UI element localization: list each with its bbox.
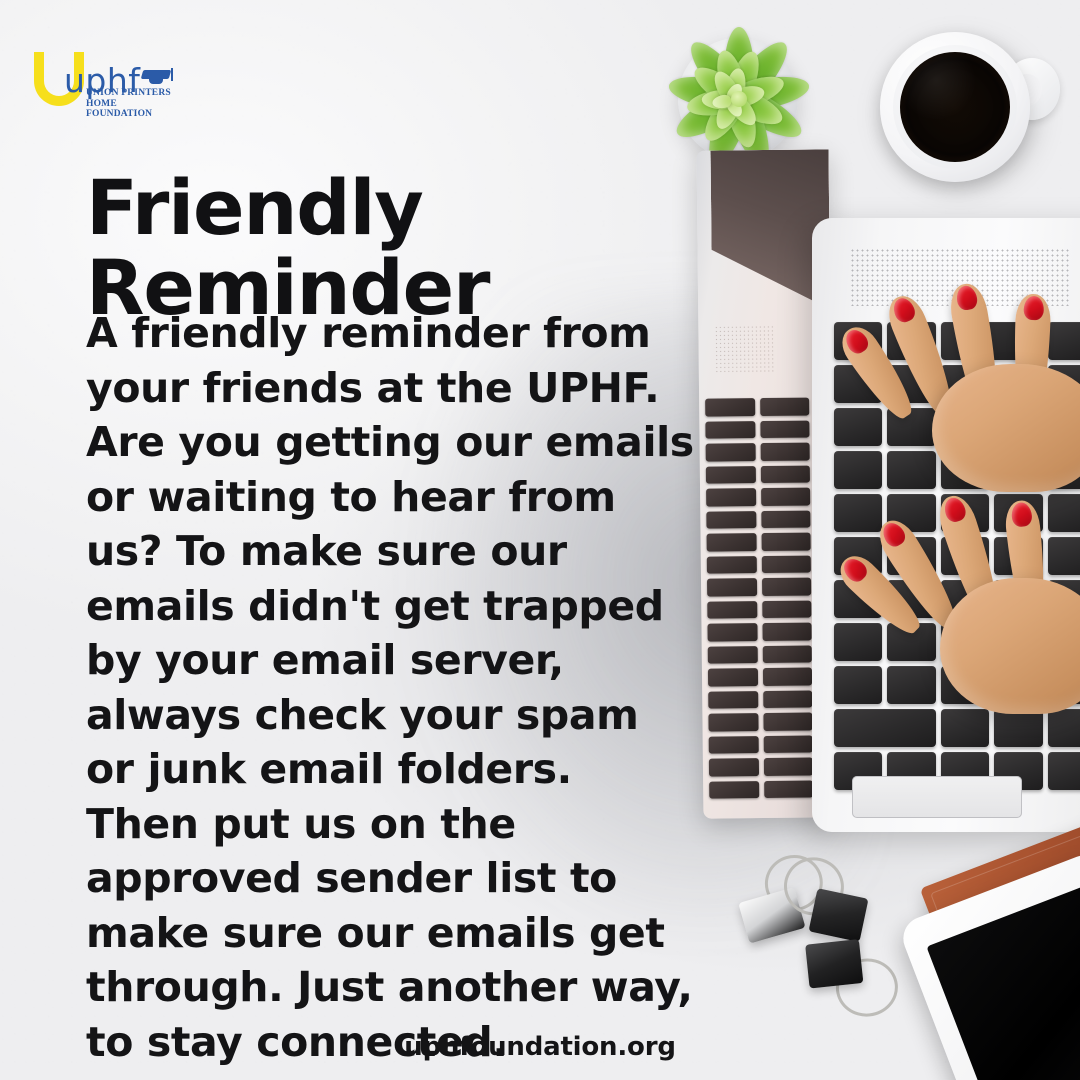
poster-canvas: uphf UNION PRINTERS HOME FOUNDATION Frie… — [0, 0, 1080, 1080]
graduation-cap-icon — [142, 66, 172, 86]
logo-tagline-line2: HOME FOUNDATION — [86, 99, 184, 120]
coffee-liquid — [900, 52, 1010, 162]
binder-clip-black-lower — [805, 936, 899, 1005]
laptop-left-speaker — [714, 325, 774, 374]
page-title: Friendly Reminder — [86, 168, 746, 328]
laptop-left-keyboard — [705, 398, 813, 799]
body-paragraph: A friendly reminder from your friends at… — [86, 306, 696, 1069]
cup-body — [880, 32, 1030, 182]
footer-website-url: uphfoundation.org — [0, 1032, 1080, 1062]
logo-tagline: UNION PRINTERS HOME FOUNDATION — [86, 88, 184, 120]
uphf-logo[interactable]: uphf UNION PRINTERS HOME FOUNDATION — [34, 50, 184, 112]
hand-typing-upper — [888, 268, 1080, 498]
coffee-cup — [876, 22, 1044, 194]
laptop-right-trackpad — [852, 776, 1022, 818]
logo-tagline-line1: UNION PRINTERS — [86, 88, 184, 99]
hand-typing-lower — [900, 470, 1080, 720]
